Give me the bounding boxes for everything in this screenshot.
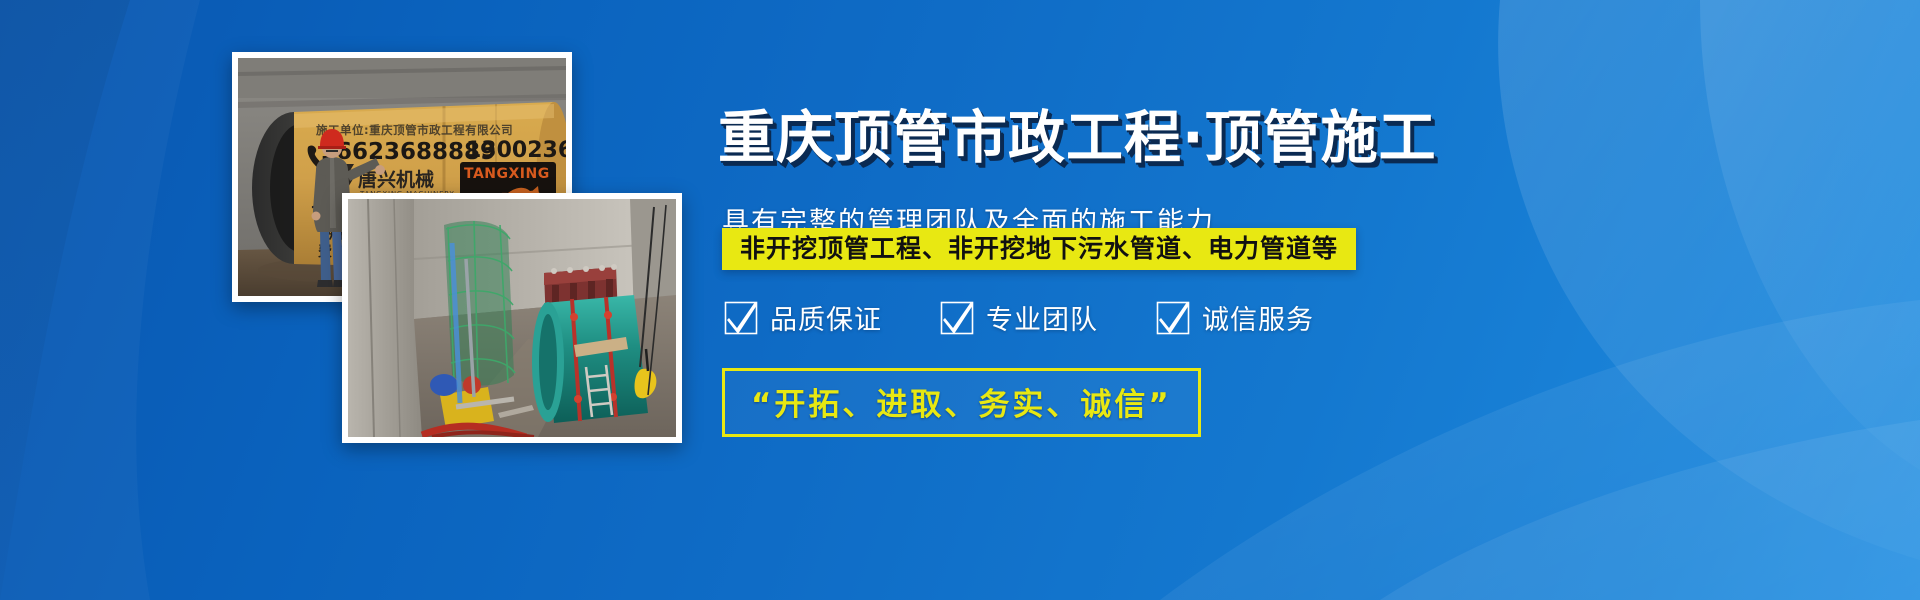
svg-text:TANGXING: TANGXING [464, 166, 550, 182]
page-title: 重庆顶管市政工程·顶管施工 [718, 92, 1437, 174]
banner-text-column: 重庆顶管市政工程·顶管施工 具有完整的管理团队及全面的施工能力 非开挖顶管工程、… [718, 0, 1898, 600]
slogan-text: “开拓、进取、务实、诚信” [751, 387, 1172, 423]
svg-text:13002368588: 13002368588 [466, 138, 566, 163]
photo-pit-artwork [348, 199, 676, 437]
services-highlight-bar: 非开挖顶管工程、非开挖地下污水管道、电力管道等 [722, 228, 1356, 270]
feature-label: 诚信服务 [1202, 298, 1314, 337]
checkmark-icon [940, 301, 974, 335]
svg-text:施工单位:重庆顶管市政工程有限公司: 施工单位:重庆顶管市政工程有限公司 [316, 123, 513, 137]
feature-label: 品质保证 [770, 298, 882, 337]
feature-item-service: 诚信服务 [1156, 298, 1314, 337]
slogan-box: “开拓、进取、务实、诚信” [722, 368, 1201, 437]
checkmark-icon [724, 301, 758, 335]
feature-item-team: 专业团队 [940, 298, 1098, 337]
feature-label: 专业团队 [986, 298, 1098, 337]
photo-pit [342, 193, 682, 443]
promo-banner: 施工单位:重庆顶管市政工程有限公司 16623688889 1300236858… [0, 0, 1920, 600]
feature-list: 品质保证 专业团队 诚信服务 [724, 298, 1314, 337]
feature-item-quality: 品质保证 [724, 298, 882, 337]
checkmark-icon [1156, 301, 1190, 335]
